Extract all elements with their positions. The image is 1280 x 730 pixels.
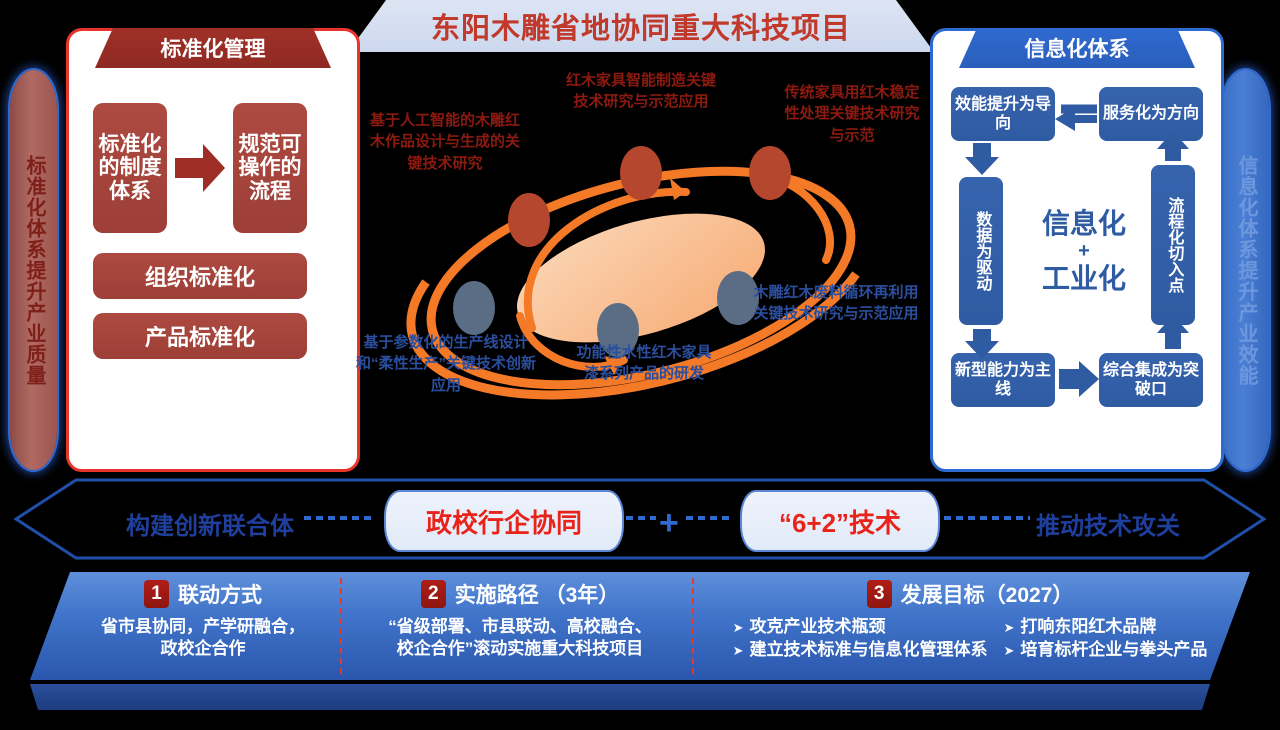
band-left-text: 构建创新联合体 <box>126 506 294 541</box>
roadmap-column-1-line-1: 省市县协同，产学研融合， <box>68 616 338 638</box>
product-standardization-label: 产品标准化 <box>145 320 255 352</box>
roadmap-column-2-line-2: 校企合作”滚动实施重大科技项目 <box>352 638 688 660</box>
right-arrow-icon <box>173 139 227 197</box>
standardization-panel-header: 标准化管理 <box>95 28 331 68</box>
orbit-node-ai-design <box>508 193 550 247</box>
orbit-label-waste-recycle: 木雕红木废料循环再利用关键技术研究与示范应用 <box>748 282 924 325</box>
roadmap-goal-1: 攻克产业技术瓶颈 <box>733 616 988 639</box>
band-pill-collaboration-label: 政校行企协同 <box>426 503 582 540</box>
roadmap-column-3: 3 发展目标（2027） 攻克产业技术瓶颈 建立技术标准与信息化管理体系 打响东… <box>702 572 1238 680</box>
roadmap-column-2-number: 2 <box>421 580 446 608</box>
roadmap-column-1-number: 1 <box>144 580 169 608</box>
orbit-node-smart-mfg <box>620 146 662 200</box>
node-data-driven: 数据为驱动 <box>959 177 1003 325</box>
page-title: 东阳木雕省地协同重大科技项目 <box>348 0 934 52</box>
node-integration-breakthrough-label: 综合集成为突破口 <box>1099 361 1203 399</box>
node-integration-breakthrough: 综合集成为突破口 <box>1099 353 1203 407</box>
band-pill-technology[interactable]: “6+2”技术 <box>740 490 940 552</box>
roadmap-panel: 1 联动方式 省市县协同，产学研融合， 政校企合作 2 实施路径 （3年） “省… <box>30 572 1250 680</box>
roadmap-column-3-header: 3 发展目标（2027） <box>702 572 1238 616</box>
center-industrialization-label: 工业化 <box>1042 264 1126 293</box>
orbit-label-ai-design: 基于人工智能的木雕红木作品设计与生成的关键技术研究 <box>370 110 520 174</box>
roadmap-column-1-title: 联动方式 <box>178 579 262 609</box>
standard-process-box: 规范可操作的流程 <box>233 103 307 233</box>
node-new-capability: 新型能力为主线 <box>951 353 1055 407</box>
page-title-text: 东阳木雕省地协同重大科技项目 <box>431 5 851 47</box>
node-efficiency-oriented: 效能提升为导向 <box>951 87 1055 141</box>
standardization-panel-header-label: 标准化管理 <box>161 33 266 63</box>
roadmap-column-3-number: 3 <box>867 580 892 608</box>
org-standardization-box: 组织标准化 <box>93 253 307 299</box>
node-process-entrypoint-label: 流程化切入点 <box>1165 197 1182 293</box>
informatization-panel-header-label: 信息化体系 <box>1025 33 1130 63</box>
standard-process-label: 规范可操作的流程 <box>233 133 307 204</box>
orbit-node-parametric-line <box>453 281 495 335</box>
org-standardization-label: 组织标准化 <box>145 260 255 292</box>
node-service-direction: 服务化为方向 <box>1099 87 1203 141</box>
band-right-text: 推动技术攻关 <box>1036 506 1180 541</box>
band-dots-3 <box>686 516 734 520</box>
collaboration-band: 构建创新联合体 政校行企协同 + “6+2”技术 推动技术攻关 <box>14 478 1266 560</box>
orbit-node-wood-stability <box>749 146 791 200</box>
node-new-capability-label: 新型能力为主线 <box>951 361 1055 399</box>
roadmap-goal-4: 培育标杆企业与拳头产品 <box>1004 639 1208 662</box>
roadmap-column-1-header: 1 联动方式 <box>68 572 338 616</box>
roadmap-column-2: 2 实施路径 （3年） “省级部署、市县联动、高校融合、 校企合作”滚动实施重大… <box>352 572 688 680</box>
center-plus-label: + <box>1078 241 1090 262</box>
informatization-panel: 信息化体系 效能提升为导向 服务化为方向 数据为驱动 流程化切入点 新型能力为主… <box>930 28 1224 472</box>
roadmap-column-1: 1 联动方式 省市县协同，产学研融合， 政校企合作 <box>68 572 338 680</box>
band-dots-4 <box>944 516 1030 520</box>
orbit-label-waterborne-paint: 功能性水性红木家具漆系列产品的研发 <box>570 342 718 385</box>
standardization-system-label: 标准化的制度体系 <box>93 133 167 204</box>
node-data-driven-label: 数据为驱动 <box>973 211 990 291</box>
roadmap-divider-1 <box>340 578 342 674</box>
orbit-label-smart-mfg: 红木家具智能制造关键技术研究与示范应用 <box>561 70 721 113</box>
orbit-label-parametric-line: 基于参数化的生产线设计和“柔性生产”关键技术创新应用 <box>356 332 536 396</box>
roadmap-column-2-line-1: “省级部署、市县联动、高校融合、 <box>352 616 688 638</box>
node-efficiency-oriented-label: 效能提升为导向 <box>951 95 1055 133</box>
infographic-canvas: 东阳木雕省地协同重大科技项目 标准化体系提升产业质量 信息化体系提升产业效能 标… <box>0 0 1280 730</box>
product-standardization-box: 产品标准化 <box>93 313 307 359</box>
roadmap-goal-2: 建立技术标准与信息化管理体系 <box>733 639 988 662</box>
informatization-panel-header: 信息化体系 <box>959 28 1195 68</box>
roadmap-column-2-header: 2 实施路径 （3年） <box>352 572 688 616</box>
standardization-panel: 标准化管理 标准化的制度体系 规范可操作的流程 组织标准化 产品标准化 <box>66 28 360 472</box>
roadmap-divider-2 <box>692 578 694 674</box>
orbit-label-wood-stability: 传统家具用红木稳定性处理关键技术研究与示范 <box>782 82 922 146</box>
band-dots-2 <box>626 516 656 520</box>
center-informatization-label: 信息化 <box>1042 209 1126 238</box>
roadmap-goals-left: 攻克产业技术瓶颈 建立技术标准与信息化管理体系 <box>733 616 988 662</box>
roadmap-column-2-body: “省级部署、市县联动、高校融合、 校企合作”滚动实施重大科技项目 <box>352 616 688 661</box>
technology-orbit-diagram: 基于人工智能的木雕红木作品设计与生成的关键技术研究 红木家具智能制造关键技术研究… <box>356 60 926 470</box>
band-plus-label: + <box>659 504 679 543</box>
roadmap-column-3-title: 发展目标（2027） <box>901 579 1074 609</box>
right-vertical-bar: 信息化体系提升产业效能 <box>1222 70 1269 470</box>
roadmap-column-1-body: 省市县协同，产学研融合， 政校企合作 <box>68 616 338 661</box>
roadmap-goal-3: 打响东阳红木品牌 <box>1004 616 1208 639</box>
standardization-system-box: 标准化的制度体系 <box>93 103 167 233</box>
roadmap-column-2-title: 实施路径 （3年） <box>455 579 620 609</box>
left-vertical-bar-label: 标准化体系提升产业质量 <box>23 155 44 386</box>
node-process-entrypoint: 流程化切入点 <box>1151 165 1195 325</box>
informatization-center-text: 信息化 + 工业化 <box>1029 181 1139 321</box>
roadmap-column-3-body: 攻克产业技术瓶颈 建立技术标准与信息化管理体系 打响东阳红木品牌 培育标杆企业与… <box>702 616 1238 662</box>
roadmap-goals-right: 打响东阳红木品牌 培育标杆企业与拳头产品 <box>1004 616 1208 662</box>
node-service-direction-label: 服务化为方向 <box>1103 104 1199 123</box>
roadmap-panel-base <box>30 684 1250 710</box>
right-vertical-bar-label: 信息化体系提升产业效能 <box>1235 155 1256 386</box>
band-dots-1 <box>304 516 376 520</box>
left-vertical-bar: 标准化体系提升产业质量 <box>10 70 57 470</box>
band-pill-technology-label: “6+2”技术 <box>779 503 901 540</box>
roadmap-column-1-line-2: 政校企合作 <box>68 638 338 660</box>
band-pill-collaboration[interactable]: 政校行企协同 <box>384 490 624 552</box>
